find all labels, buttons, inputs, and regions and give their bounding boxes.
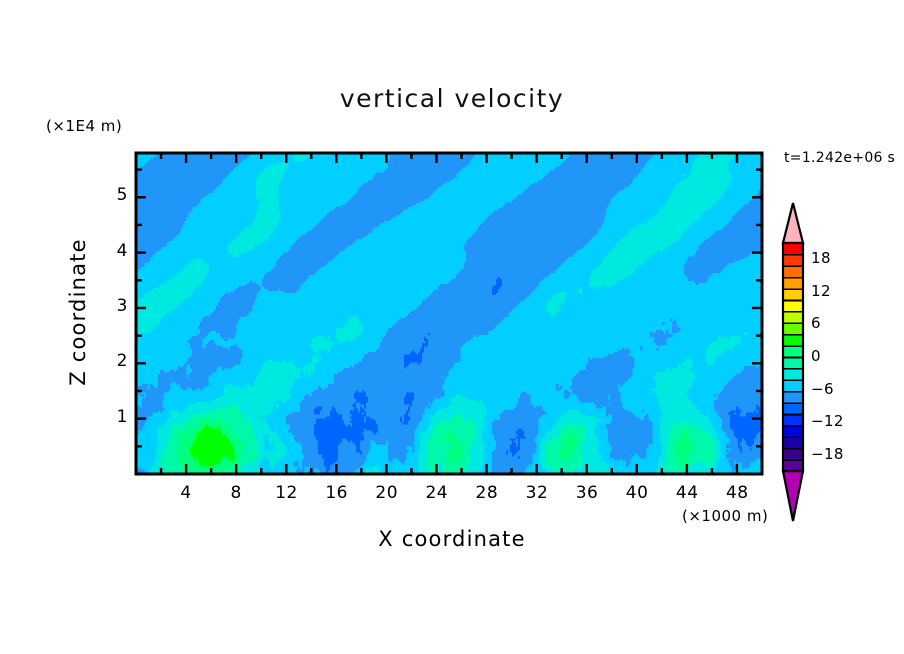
colorbar-band <box>783 277 803 289</box>
colorbar-tick-label: 0 <box>811 347 821 365</box>
colorbar-tick-label: −18 <box>811 445 844 463</box>
x-tick-label: 28 <box>476 483 498 503</box>
y-tick-label: 1 <box>106 407 128 427</box>
colorbar-band <box>783 300 803 312</box>
x-tick-label: 24 <box>425 483 447 503</box>
x-tick-label: 40 <box>626 483 648 503</box>
colorbar-band <box>783 357 803 369</box>
colorbar-band <box>783 368 803 380</box>
colorbar-band <box>783 243 803 255</box>
colorbar-band <box>783 460 803 472</box>
colorbar-band <box>783 437 803 449</box>
y-tick-label: 4 <box>106 241 128 261</box>
colorbar <box>783 203 803 521</box>
x-tick-label: 32 <box>526 483 548 503</box>
colorbar-under-arrow <box>783 471 803 521</box>
colorbar-band <box>783 266 803 278</box>
colorbar-over-arrow <box>783 203 803 243</box>
x-tick-label: 20 <box>375 483 397 503</box>
x-tick-label: 16 <box>325 483 347 503</box>
x-tick-label: 44 <box>676 483 698 503</box>
x-tick-label: 12 <box>275 483 297 503</box>
colorbar-tick-label: 6 <box>811 314 821 332</box>
colorbar-band <box>783 254 803 266</box>
colorbar-band <box>783 311 803 323</box>
colorbar-tick-label: 12 <box>811 282 831 300</box>
colorbar-tick-label: 18 <box>811 249 831 267</box>
colorbar-band <box>783 289 803 301</box>
x-tick-label: 8 <box>225 483 247 503</box>
contour-plot <box>0 0 904 654</box>
y-tick-label: 5 <box>106 185 128 205</box>
y-tick-label: 3 <box>106 296 128 316</box>
colorbar-band <box>783 380 803 392</box>
y-tick-label: 2 <box>106 351 128 371</box>
colorbar-band <box>783 346 803 358</box>
contour-field <box>136 153 762 475</box>
colorbar-band <box>783 425 803 437</box>
colorbar-band <box>783 391 803 403</box>
colorbar-band <box>783 403 803 415</box>
x-tick-label: 4 <box>175 483 197 503</box>
colorbar-band <box>783 323 803 335</box>
colorbar-tick-label: −12 <box>811 412 844 430</box>
x-tick-label: 48 <box>726 483 748 503</box>
colorbar-band <box>783 448 803 460</box>
colorbar-band <box>783 414 803 426</box>
x-tick-label: 36 <box>576 483 598 503</box>
colorbar-band <box>783 334 803 346</box>
colorbar-tick-label: −6 <box>811 380 834 398</box>
figure-canvas: vertical velocity (×1E4 m) (×1000 m) t=1… <box>0 0 904 654</box>
